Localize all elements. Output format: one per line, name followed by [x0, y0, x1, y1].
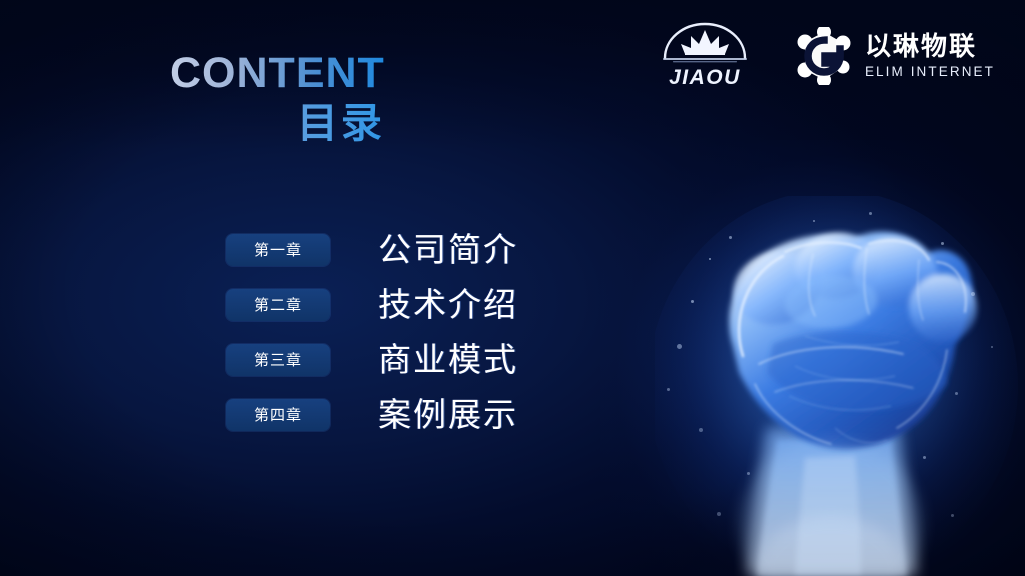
particle [691, 300, 694, 303]
glowing-fist-artwork [655, 196, 1025, 576]
particle [709, 258, 711, 260]
toc-item-1[interactable]: 第一章 公司简介 [226, 222, 518, 277]
jiaou-wordmark: JIAOU [669, 66, 741, 90]
particle [729, 236, 732, 239]
page-title: CONTENT 目录 [170, 52, 385, 145]
elim-name-cn: 以琳物联 [865, 33, 995, 59]
particle [941, 242, 944, 245]
particle [813, 220, 815, 222]
chapter-title[interactable]: 案例展示 [378, 398, 518, 431]
particle [991, 346, 993, 348]
particle [747, 472, 750, 475]
particle [717, 512, 721, 516]
particle [923, 456, 926, 459]
toc-item-4[interactable]: 第四章 案例展示 [226, 387, 518, 442]
chapter-title[interactable]: 商业模式 [378, 343, 518, 376]
particle [677, 344, 682, 349]
title-chinese: 目录 [170, 101, 385, 145]
chapter-badge[interactable]: 第二章 [226, 289, 330, 321]
particle [955, 392, 958, 395]
table-of-contents: 第一章 公司简介 第二章 技术介绍 第三章 商业模式 第四章 案例展示 [226, 222, 518, 442]
sunrise-crown-emblem-icon [659, 22, 751, 64]
particle [667, 388, 670, 391]
chapter-badge[interactable]: 第三章 [226, 344, 330, 376]
presentation-slide: JIAOU 以琳物联 ELIM INTERNET [0, 0, 1025, 576]
chapter-title[interactable]: 公司简介 [378, 233, 518, 266]
title-english: CONTENT [170, 52, 385, 95]
jiaou-logo: JIAOU [659, 22, 751, 90]
elim-name-en: ELIM INTERNET [865, 65, 995, 79]
elim-logo: 以琳物联 ELIM INTERNET [795, 27, 995, 85]
chapter-badge[interactable]: 第一章 [226, 234, 330, 266]
molecular-g-emblem-icon [795, 27, 853, 85]
logo-group: JIAOU 以琳物联 ELIM INTERNET [659, 22, 995, 90]
toc-item-2[interactable]: 第二章 技术介绍 [226, 277, 518, 332]
toc-item-3[interactable]: 第三章 商业模式 [226, 332, 518, 387]
chapter-badge[interactable]: 第四章 [226, 399, 330, 431]
chapter-title[interactable]: 技术介绍 [378, 288, 518, 321]
particle [951, 514, 954, 517]
elim-wordmark: 以琳物联 ELIM INTERNET [865, 33, 995, 79]
particle [971, 292, 975, 296]
particle [699, 428, 703, 432]
particle [869, 212, 872, 215]
background-glow [600, 140, 1025, 576]
